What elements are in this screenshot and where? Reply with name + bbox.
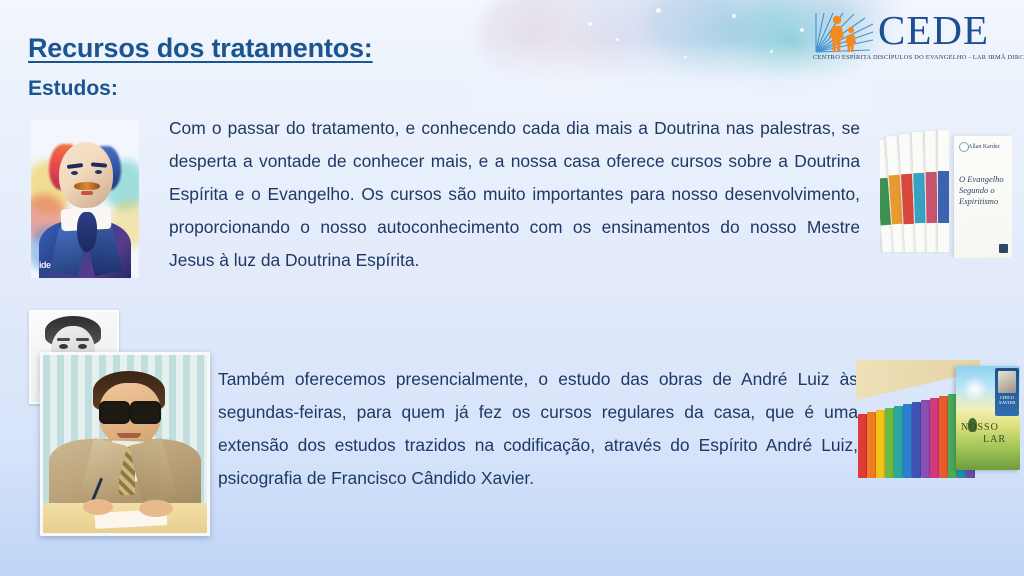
slide-subtitle: Estudos: (28, 77, 118, 101)
kardec-books-caption: Coleção de obras básicas da codificação (880, 118, 881, 119)
kardec-books-image: Allan Kardec O Evangelho Segundo o Espir… (880, 118, 1012, 258)
kardec-image-watermark: ide (39, 260, 51, 270)
cede-logo-mark-icon (812, 10, 874, 54)
badge-author-name: CHICO XAVIER (997, 395, 1017, 406)
cede-tagline: CENTRO ESPÍRITA DISCÍPULOS DO EVANGELHO … (813, 54, 1011, 61)
kardec-book-front-cover: Allan Kardec O Evangelho Segundo o Espir… (954, 136, 1012, 258)
cede-wordmark: CEDE (878, 6, 989, 54)
kardec-book-author: Allan Kardec (968, 144, 1000, 150)
nosso-lar-author-badge: CHICO XAVIER (995, 368, 1019, 416)
chico-xavier-image-caption: Francisco Cândido Xavier psicografando (43, 355, 44, 356)
nosso-lar-books-image: NOSSO LAR CHICO XAVIER Coleção André Lui… (856, 360, 1020, 478)
nosso-lar-title-line1: NOSSO (961, 422, 999, 433)
paragraph-estudos-cursos: Com o passar do tratamento, e conhecendo… (169, 112, 860, 277)
nosso-lar-front-cover: NOSSO LAR CHICO XAVIER (956, 366, 1020, 470)
nosso-lar-cover-title: NOSSO LAR (961, 422, 1017, 445)
cede-logo: CEDE CENTRO ESPÍRITA DISCÍPULOS DO EVANG… (812, 8, 1012, 70)
slide-title: Recursos dos tratamentos: (28, 33, 373, 64)
paragraph-obras-andre-luiz: Também oferecemos presencialmente, o est… (218, 363, 858, 495)
publisher-logo-icon (999, 244, 1008, 253)
slide-canvas: Respingo de aquarela em tons de azul, tu… (0, 0, 1024, 576)
author-portrait-thumbnail (998, 371, 1016, 393)
nosso-lar-title-line2: LAR (983, 434, 1017, 445)
kardec-book-title: O Evangelho Segundo o Espiritismo (959, 174, 1009, 207)
allan-kardec-portrait-image: ide Retrato em aquarela de Allan Kardec (31, 120, 139, 278)
watercolor-splash-decoration: Respingo de aquarela em tons de azul, tu… (470, 0, 870, 104)
kardec-image-caption: Retrato em aquarela de Allan Kardec (31, 120, 32, 121)
chico-xavier-photo-image: Francisco Cândido Xavier psicografando (40, 352, 210, 536)
